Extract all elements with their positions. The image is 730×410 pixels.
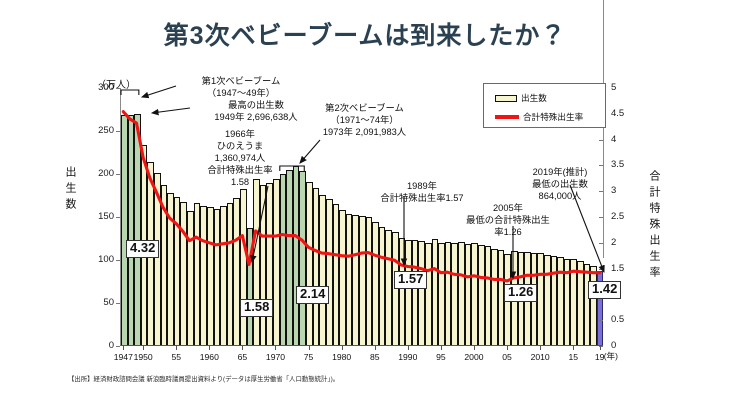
bar-fill bbox=[346, 214, 353, 345]
slide-root: 第3次ベビーブームは到来したか？ （万人） 出生数 合計特殊出生率 300250… bbox=[0, 0, 730, 410]
left-tick-label: 250 bbox=[88, 126, 114, 136]
bar-1971 bbox=[280, 174, 287, 345]
annotation-2005: 2005年 最低の合計特殊出生 率1.26 bbox=[450, 203, 566, 239]
bar-fill bbox=[551, 256, 558, 345]
annotation-boom2: 第2次ベビーブーム （1971〜74年） 1973年 2,091,983人 bbox=[292, 103, 437, 139]
bar-fill bbox=[174, 197, 181, 345]
right-tick bbox=[599, 320, 603, 321]
left-tick-label: 150 bbox=[88, 212, 114, 222]
bar-fill bbox=[260, 185, 267, 345]
bar-2012 bbox=[551, 256, 558, 345]
right-tick-label: 0.5 bbox=[611, 315, 624, 325]
left-tick bbox=[116, 260, 120, 261]
bar-2000 bbox=[471, 243, 478, 345]
annotation-boom1-line1: 第1次ベビーブーム bbox=[176, 76, 306, 88]
bar-fill bbox=[405, 240, 412, 345]
annotation-2019: 2019年(推計) 最低の出生数 864,000人 bbox=[500, 167, 620, 203]
legend-item-rate: 合計特殊出生率 bbox=[495, 111, 583, 123]
left-tick bbox=[116, 217, 120, 218]
callout-rate-1989: 1.57 bbox=[394, 271, 427, 289]
bar-1963 bbox=[227, 203, 234, 345]
right-tick-label: 2.5 bbox=[611, 212, 624, 222]
bar-1960 bbox=[207, 207, 214, 345]
annotation-2005-line3: 率1.26 bbox=[450, 227, 566, 239]
annotation-boom1-line2: （1947〜49年） bbox=[176, 88, 306, 100]
bar-2013 bbox=[557, 257, 564, 345]
x-tick-label-85: 85 bbox=[370, 352, 380, 362]
x-tick-label-1947: 1947 bbox=[114, 352, 133, 362]
bar-fill bbox=[286, 170, 293, 345]
bar-1989 bbox=[399, 238, 406, 345]
x-tick bbox=[275, 346, 276, 350]
left-tick-label: 300 bbox=[88, 83, 114, 93]
x-tick bbox=[540, 346, 541, 350]
left-tick-label: 100 bbox=[88, 255, 114, 265]
page-title: 第3次ベビーブームは到来したか？ bbox=[0, 16, 730, 52]
x-tick-label-1980: 1980 bbox=[332, 352, 351, 362]
bar-fill bbox=[537, 253, 544, 345]
annotation-boom1: 第1次ベビーブーム （1947〜49年） bbox=[176, 76, 306, 100]
bar-1958 bbox=[194, 203, 201, 345]
right-tick-label: 4.5 bbox=[611, 109, 624, 119]
bar-2003 bbox=[491, 249, 498, 345]
bar-fill bbox=[425, 243, 432, 345]
bar-1985 bbox=[372, 222, 379, 345]
annotation-2019-line1: 2019年(推計) bbox=[500, 167, 620, 179]
bar-fill bbox=[544, 255, 551, 345]
bar-fill bbox=[333, 204, 340, 345]
right-tick-label: 1.5 bbox=[611, 264, 624, 274]
x-tick-label-1960: 1960 bbox=[200, 352, 219, 362]
bar-fill bbox=[247, 228, 254, 345]
x-tick bbox=[573, 346, 574, 350]
bar-fill bbox=[584, 264, 591, 345]
bar-fill bbox=[432, 239, 439, 345]
bar-fill bbox=[161, 185, 168, 345]
bar-1993 bbox=[425, 243, 432, 345]
right-tick bbox=[599, 140, 603, 141]
bar-1967 bbox=[253, 179, 260, 345]
bar-1969 bbox=[266, 183, 273, 345]
bar-fill bbox=[299, 171, 306, 345]
bar-1997 bbox=[451, 243, 458, 345]
bar-1979 bbox=[333, 204, 340, 345]
bar-2015 bbox=[570, 259, 577, 345]
left-tick bbox=[116, 346, 120, 347]
left-axis-label: 出生数 bbox=[62, 166, 78, 214]
x-tick bbox=[123, 346, 124, 350]
left-tick bbox=[116, 131, 120, 132]
x-tick-label-05: 05 bbox=[502, 352, 512, 362]
bar-1974 bbox=[299, 171, 306, 345]
bar-1964 bbox=[233, 198, 240, 345]
bar-fill bbox=[352, 215, 359, 345]
bar-1996 bbox=[445, 242, 452, 345]
bar-fill bbox=[121, 115, 128, 345]
x-tick-label-95: 95 bbox=[436, 352, 446, 362]
bar-1984 bbox=[366, 217, 373, 345]
x-tick bbox=[441, 346, 442, 350]
x-tick-label-65: 65 bbox=[238, 352, 248, 362]
bar-1991 bbox=[412, 240, 419, 345]
x-tick-label-2000: 2000 bbox=[464, 352, 483, 362]
bar-fill bbox=[445, 242, 452, 345]
annotation-hinoeuma-line5: 1.58 bbox=[176, 177, 304, 189]
bar-1983 bbox=[359, 216, 366, 345]
bar-2016 bbox=[577, 261, 584, 345]
annotation-hinoeuma-line1: 1966年 bbox=[176, 129, 304, 141]
bar-1982 bbox=[352, 215, 359, 345]
x-tick-label-1970: 1970 bbox=[266, 352, 285, 362]
bar-1977 bbox=[319, 195, 326, 345]
bar-1986 bbox=[379, 227, 386, 345]
bar-fill bbox=[359, 216, 366, 345]
x-tick-label-1950: 1950 bbox=[134, 352, 153, 362]
x-tick bbox=[474, 346, 475, 350]
bar-fill bbox=[313, 188, 320, 345]
bar-fill bbox=[207, 207, 214, 345]
bar-1978 bbox=[326, 199, 333, 345]
callout-rate-1973: 2.14 bbox=[296, 286, 329, 304]
bar-fill bbox=[220, 206, 227, 345]
bar-fill bbox=[326, 199, 333, 345]
bar-1953 bbox=[161, 185, 168, 345]
bar-fill bbox=[319, 195, 326, 345]
bar-fill bbox=[366, 217, 373, 345]
annotation-2005-line2: 最低の合計特殊出生 bbox=[450, 215, 566, 227]
bar-fill bbox=[128, 115, 135, 345]
bar-2002 bbox=[485, 246, 492, 345]
left-tick-label: 0 bbox=[88, 341, 114, 351]
bar-fill bbox=[412, 240, 419, 345]
annotation-hinoeuma-line4: 合計特殊出生率 bbox=[176, 165, 304, 177]
bar-fill bbox=[438, 243, 445, 345]
legend-line-swatch-icon bbox=[495, 115, 519, 118]
bar-fill bbox=[465, 244, 472, 345]
bar-fill bbox=[491, 249, 498, 345]
bar-fill bbox=[134, 114, 141, 345]
bar-1973 bbox=[293, 166, 300, 345]
bar-1990 bbox=[405, 240, 412, 345]
right-tick bbox=[599, 243, 603, 244]
bar-fill bbox=[485, 246, 492, 345]
bar-2017 bbox=[584, 264, 591, 345]
bar-fill bbox=[266, 183, 273, 345]
bar-fill bbox=[306, 182, 313, 345]
x-tick bbox=[242, 346, 243, 350]
x-axis-labels: 1947195055196065197075198085199095200005… bbox=[120, 350, 603, 364]
left-tick-label: 200 bbox=[88, 169, 114, 179]
bar-1959 bbox=[200, 206, 207, 345]
x-tick bbox=[507, 346, 508, 350]
source-note: 【出所】経済財政諮問会議 新浪臨時議員提出資料より(データは厚生労働省「人口動態… bbox=[68, 374, 339, 383]
right-tick bbox=[599, 269, 603, 270]
bar-fill bbox=[570, 259, 577, 345]
bar-fill bbox=[253, 179, 260, 345]
bar-1999 bbox=[465, 244, 472, 345]
bar-1965 bbox=[240, 189, 247, 345]
right-tick bbox=[599, 217, 603, 218]
bar-1961 bbox=[214, 209, 221, 345]
x-tick bbox=[342, 346, 343, 350]
annotation-2005-line1: 2005年 bbox=[450, 203, 566, 215]
bar-fill bbox=[240, 189, 247, 345]
bar-fill bbox=[557, 257, 564, 345]
bar-2010 bbox=[537, 253, 544, 345]
bar-fill bbox=[478, 245, 485, 345]
bar-2018 bbox=[590, 266, 597, 345]
bar-1994 bbox=[432, 239, 439, 345]
bar-fill bbox=[214, 209, 221, 345]
x-tick bbox=[209, 346, 210, 350]
x-tick-label-1990: 1990 bbox=[398, 352, 417, 362]
annotation-hinoeuma: 1966年 ひのえうま 1,360,974人 合計特殊出生率 1.58 bbox=[176, 129, 304, 188]
x-tick bbox=[309, 346, 310, 350]
bar-2014 bbox=[564, 259, 571, 345]
bar-1992 bbox=[418, 241, 425, 345]
bar-2011 bbox=[544, 255, 551, 345]
bar-2001 bbox=[478, 245, 485, 345]
annotation-1989: 1989年 合計特殊出生率1.57 bbox=[362, 181, 482, 205]
bar-fill bbox=[200, 206, 207, 345]
x-tick-label-15: 15 bbox=[568, 352, 578, 362]
x-tick-label-2010: 2010 bbox=[531, 352, 550, 362]
bar-fill bbox=[577, 261, 584, 345]
annotation-2019-line2: 最低の出生数 bbox=[500, 179, 620, 191]
bar-fill bbox=[227, 203, 234, 345]
bar-fill bbox=[458, 242, 465, 345]
bar-1949 bbox=[134, 114, 141, 345]
x-tick bbox=[375, 346, 376, 350]
callout-rate-1966: 1.58 bbox=[240, 299, 273, 317]
bar-fill bbox=[180, 202, 187, 345]
annotation-2019-line3: 864,000人 bbox=[500, 191, 620, 203]
bar-1954 bbox=[167, 193, 174, 345]
left-tick bbox=[116, 303, 120, 304]
bar-1966 bbox=[247, 228, 254, 345]
bar-fill bbox=[471, 243, 478, 345]
bar-1962 bbox=[220, 206, 227, 345]
bar-1968 bbox=[260, 185, 267, 345]
bar-1957 bbox=[187, 211, 194, 345]
left-tick bbox=[116, 174, 120, 175]
bar-fill bbox=[194, 203, 201, 345]
x-tick bbox=[600, 346, 601, 350]
x-tick bbox=[143, 346, 144, 350]
annotation-hinoeuma-line3: 1,360,974人 bbox=[176, 153, 304, 165]
left-tick bbox=[116, 88, 120, 89]
annotation-boom2-line1: 第2次ベビーブーム bbox=[292, 103, 437, 115]
annotation-1989-line1: 1989年 bbox=[362, 181, 482, 193]
left-tick-label: 50 bbox=[88, 298, 114, 308]
bar-fill bbox=[590, 266, 597, 345]
bar-1956 bbox=[180, 202, 187, 345]
bar-1972 bbox=[286, 170, 293, 345]
bar-fill bbox=[187, 211, 194, 345]
legend-item-births: 出生数 bbox=[495, 92, 547, 104]
chart-legend: 出生数 合計特殊出生率 bbox=[483, 83, 606, 128]
bar-fill bbox=[372, 222, 379, 345]
legend-bar-swatch-icon bbox=[495, 95, 517, 102]
bar-fill bbox=[379, 227, 386, 345]
x-tick-label-75: 75 bbox=[304, 352, 314, 362]
bar-fill bbox=[418, 241, 425, 345]
annotation-boom2-line3: 1973年 2,091,983人 bbox=[292, 127, 437, 139]
callout-rate-1949: 4.32 bbox=[126, 240, 159, 258]
bar-1980 bbox=[339, 210, 346, 345]
right-axis-line bbox=[603, 0, 604, 258]
bar-fill bbox=[564, 259, 571, 345]
bar-fill bbox=[385, 230, 392, 345]
legend-births-label: 出生数 bbox=[521, 92, 547, 104]
bar-fill bbox=[451, 243, 458, 345]
bar-1947 bbox=[121, 115, 128, 345]
bar-1952 bbox=[154, 173, 161, 345]
callout-rate-2005: 1.26 bbox=[504, 284, 537, 302]
bar-1976 bbox=[313, 188, 320, 345]
callout-rate-2019: 1.42 bbox=[588, 281, 621, 299]
bar-1975 bbox=[306, 182, 313, 345]
bar-1995 bbox=[438, 243, 445, 345]
bar-fill bbox=[399, 238, 406, 345]
bar-fill bbox=[233, 198, 240, 345]
right-tick-label: 5 bbox=[611, 83, 616, 93]
bar-fill bbox=[167, 193, 174, 345]
bar-1981 bbox=[346, 214, 353, 345]
annotation-hinoeuma-line2: ひのえうま bbox=[176, 141, 304, 153]
bar-1970 bbox=[273, 179, 280, 345]
right-tick-label: 2 bbox=[611, 238, 616, 248]
legend-rate-label: 合計特殊出生率 bbox=[523, 111, 583, 123]
right-axis-label: 合計特殊出生率 bbox=[646, 170, 662, 282]
bar-fill bbox=[154, 173, 161, 345]
x-tick bbox=[408, 346, 409, 350]
bar-1987 bbox=[385, 230, 392, 345]
bar-fill bbox=[293, 166, 300, 345]
bar-fill bbox=[339, 210, 346, 345]
x-axis-unit: (年) bbox=[604, 350, 618, 362]
right-tick-label: 4 bbox=[611, 135, 616, 145]
bar-1955 bbox=[174, 197, 181, 345]
x-tick-label-55: 55 bbox=[171, 352, 181, 362]
bar-fill bbox=[273, 179, 280, 345]
bar-fill bbox=[280, 174, 287, 345]
x-tick bbox=[176, 346, 177, 350]
bar-1948 bbox=[128, 115, 135, 345]
annotation-boom2-line2: （1971〜74年） bbox=[292, 115, 437, 127]
bar-1998 bbox=[458, 242, 465, 345]
